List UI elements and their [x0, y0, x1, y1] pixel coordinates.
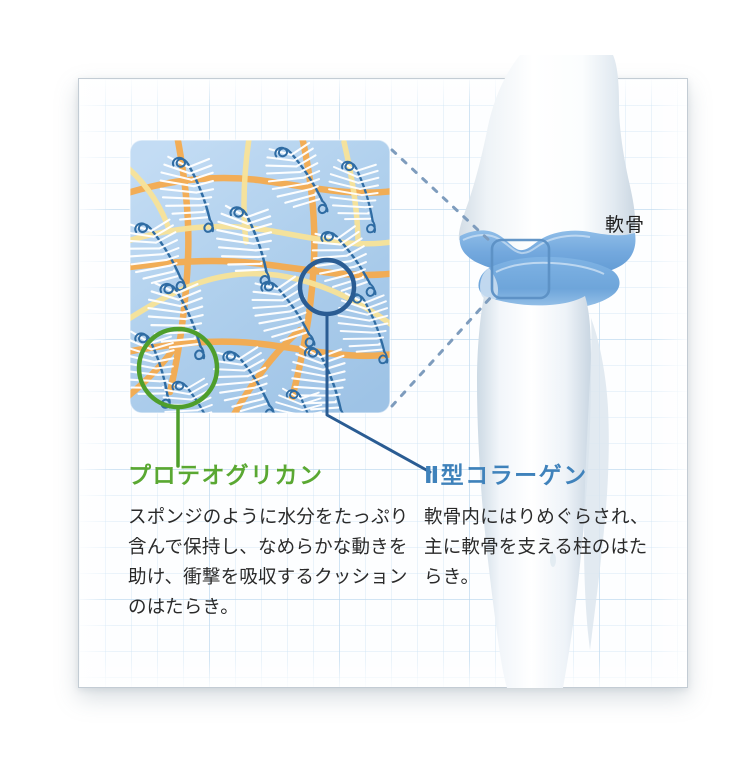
callout-body-proteoglycan: スポンジのように水分をたっぷり含んで保持し、なめらかな動きを助け、衝撃を吸収する…	[128, 502, 418, 622]
callout-title-proteoglycan: プロテオグリカン	[128, 464, 324, 487]
callout-title-collagen: Ⅱ型コラーゲン	[424, 464, 588, 487]
cartilage-label: 軟骨	[605, 210, 645, 237]
callout-body-collagen: 軟骨内にはりめぐらされ、主に軟骨を支える柱のはたらき。	[424, 502, 656, 592]
figure-stage: 軟骨 プロテオグリカン スポンジのように水分をたっぷり含んで保持し、なめらかな動…	[0, 0, 756, 769]
